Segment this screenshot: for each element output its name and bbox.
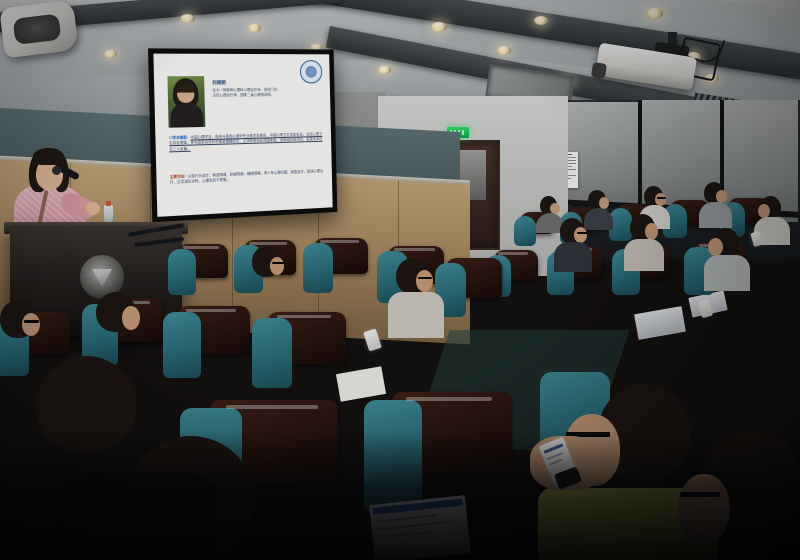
slide-section2-label: 主要方向： [170, 174, 188, 179]
lecture-hall-photo: 刘晓明 北大一院精神心理科心理治疗师、现任门诊 主任心理治疗师、国家二级心理咨询… [0, 0, 800, 560]
ceiling-spotlight [104, 50, 117, 58]
projection-screen: 刘晓明 北大一院精神心理科心理治疗师、现任门诊 主任心理治疗师、国家二级心理咨询… [148, 48, 337, 222]
water-bottle [104, 205, 113, 222]
presenter-hand [86, 202, 100, 215]
notepad[interactable] [336, 366, 386, 402]
slide-section-academic: ◇学术兼职：中国心理学会、临床与咨询心理学专业委员会委员，中国心理卫生协会会员，… [169, 132, 323, 153]
ceiling-spotlight [248, 24, 261, 32]
ceiling-spotlight [534, 16, 548, 25]
foreground-shadow [0, 430, 800, 560]
speaker-portrait-photo [167, 76, 205, 128]
slide-intro-text: 北大一院精神心理科心理治疗师、现任门诊 主任心理治疗师、国家二级心理咨询师。 [212, 87, 318, 99]
slide-section-focus: 主要方向：认知行为治疗、焦虑障碍、抑郁障碍、睡眠障碍、青少年心理问题、家庭治疗、… [170, 169, 324, 186]
presentation-slide: 刘晓明 北大一院精神心理科心理治疗师、现任门诊 主任心理治疗师、国家二级心理咨询… [153, 54, 332, 217]
wall-speaker [0, 0, 79, 58]
presenter-hair [33, 148, 64, 165]
ceiling-spotlight [646, 8, 663, 19]
slide-section1-label: ◇学术兼职： [169, 135, 191, 140]
slide-intro-line: 主任心理治疗师、国家二级心理咨询师。 [213, 93, 319, 100]
laptop[interactable] [634, 306, 686, 340]
ceiling-spotlight [431, 22, 447, 32]
slide-speaker-name: 刘晓明 [212, 80, 226, 86]
slide-section1-text: 中国心理学会、临床与咨询心理学专业委员会委员，中国心理卫生协会会员，北京心理卫生… [169, 132, 322, 151]
slide-section2-text: 认知行为治疗、焦虑障碍、抑郁障碍、睡眠障碍、青少年心理问题、家庭治疗、团体心理治… [170, 169, 323, 185]
ceiling-spotlight [497, 46, 511, 55]
ceiling-spotlight [180, 14, 195, 23]
microphone-head-icon [52, 166, 61, 175]
projector-lens [591, 62, 607, 79]
ceiling-spotlight [378, 66, 391, 74]
university-seal-icon [300, 60, 323, 84]
